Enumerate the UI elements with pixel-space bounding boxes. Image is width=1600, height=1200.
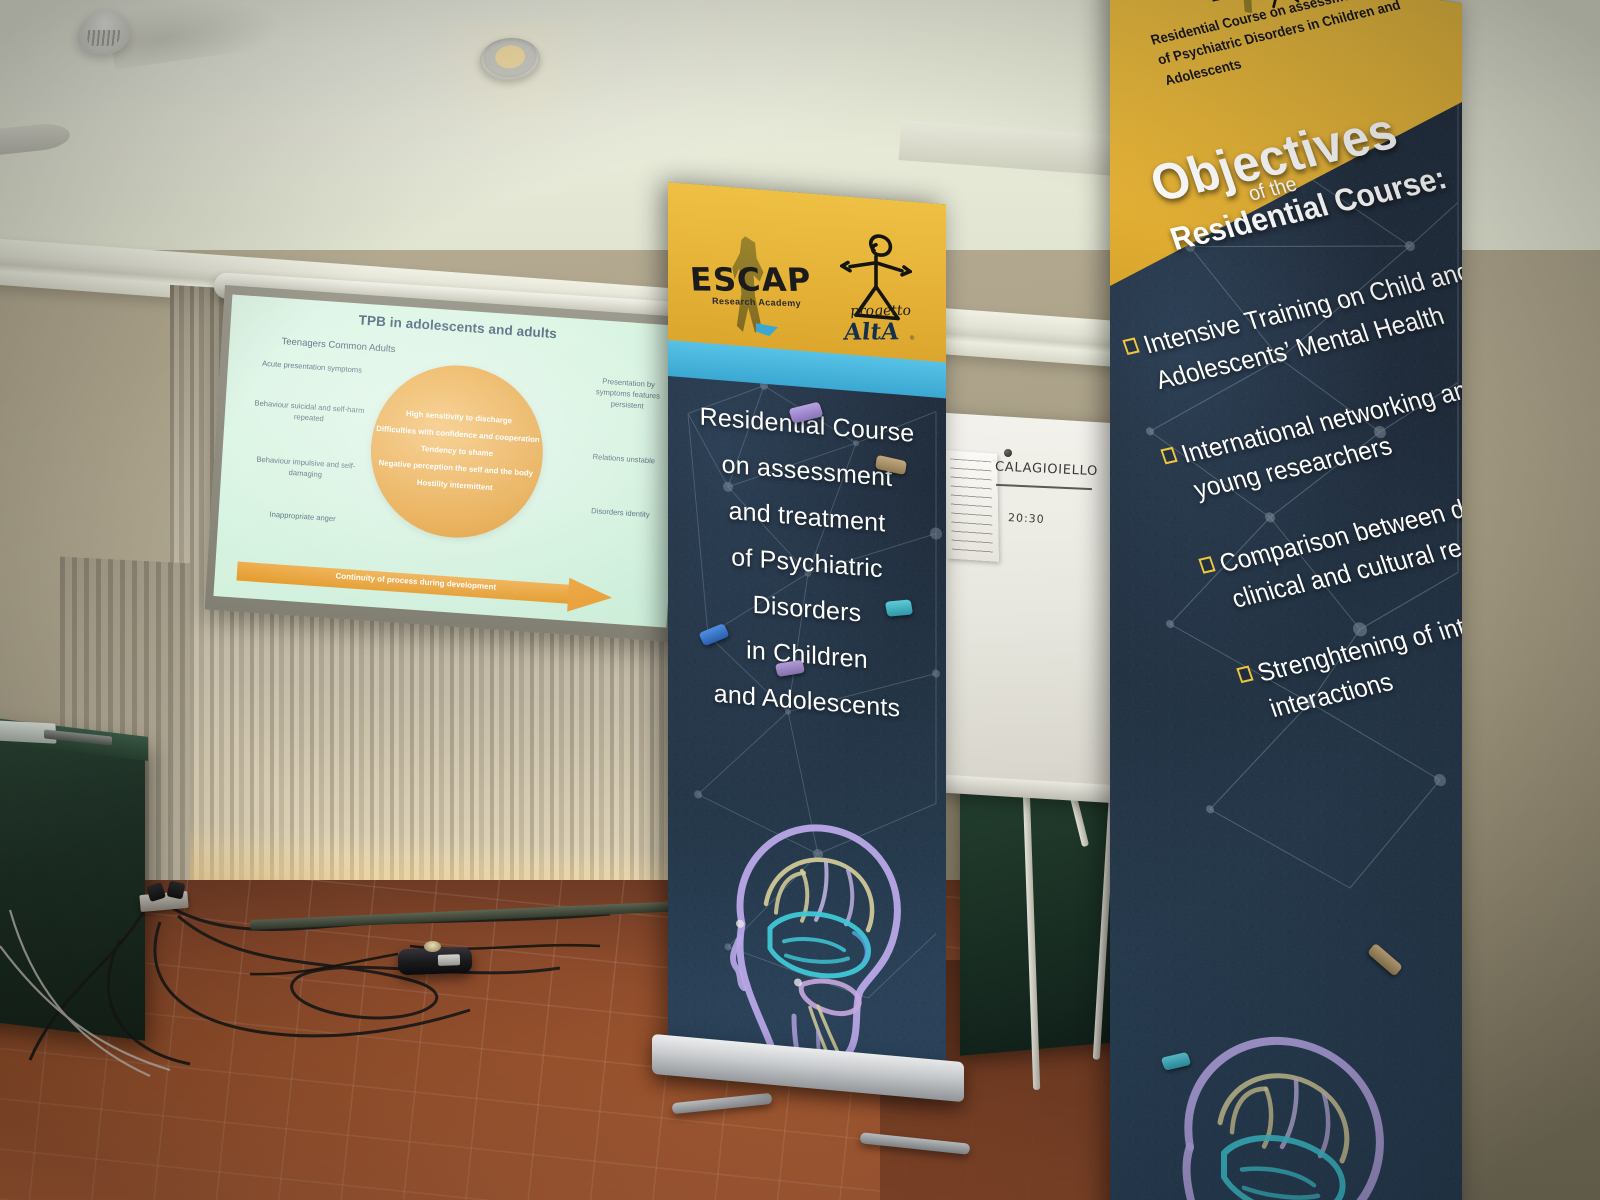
alta-logo-name: AltA bbox=[843, 318, 900, 345]
banner-center-title-line-4: Disorders bbox=[753, 591, 862, 629]
banner-center-title-line-2: and treatment bbox=[729, 497, 886, 539]
slide-circle-item-0: High sensitivity to discharge bbox=[406, 409, 513, 427]
flipchart-written-time: 20:30 bbox=[1008, 511, 1045, 526]
chalk-piece bbox=[885, 599, 913, 616]
banner-right: ESC Residential Course on assessment and… bbox=[1110, 0, 1462, 1200]
banner-center-title-line-3: of Psychiatric bbox=[731, 543, 882, 584]
banner-center: ESCAP Research Academy progetto AltA ® bbox=[668, 182, 946, 1094]
slide-circle-item-3: Negative perception the self and the bod… bbox=[378, 458, 533, 479]
slide-left-item-2: Behaviour impulsive and self-damaging bbox=[245, 454, 366, 484]
banner-center-body: Residential Course on assessment and tre… bbox=[668, 374, 946, 1094]
projection-screen: TPB in adolescents and adults Teenagers … bbox=[205, 285, 694, 642]
banner-center-header-band: ESCAP Research Academy progetto AltA ® bbox=[668, 182, 946, 364]
presentation-slide: TPB in adolescents and adults Teenagers … bbox=[213, 295, 685, 628]
slide-continuity-arrow: Continuity of process during development bbox=[236, 558, 633, 612]
slide-circle-item-1: Difficulties with confidence and coopera… bbox=[376, 424, 540, 446]
escap-figure-foot-icon bbox=[756, 323, 778, 337]
banner-center-title-block: Residential Course on assessment and tre… bbox=[668, 400, 946, 727]
slide-column-header: Teenagers Common Adults bbox=[281, 336, 395, 355]
flipchart-clip-icon bbox=[1004, 449, 1012, 457]
projection-screen-frame: TPB in adolescents and adults Teenagers … bbox=[205, 285, 694, 642]
slide-circle-item-4: Hostility intermittent bbox=[417, 478, 493, 493]
flipchart-side-paper bbox=[945, 450, 999, 562]
escap-logo-text: ESCAP bbox=[689, 260, 813, 299]
plug-icon bbox=[167, 881, 186, 900]
scene-root: CALAGIOIELLO 20:30 TPB in adolescents an… bbox=[0, 0, 1600, 1200]
alta-logo-progetto: progetto bbox=[849, 303, 911, 319]
banner-center-title-line-1: on assessment bbox=[722, 450, 893, 493]
slide-right-item-0: Presentation by symptoms features persis… bbox=[584, 375, 672, 413]
banner-center-title-line-5: in Children bbox=[746, 636, 868, 675]
escap-logo-subtitle: Research Academy bbox=[712, 296, 802, 309]
slide-right-item-1: Relations unstable bbox=[581, 451, 667, 468]
slide-right-item-2: Disorders identity bbox=[577, 505, 663, 522]
slide-left-item-3: Inappropriate anger bbox=[242, 508, 362, 527]
slide-left-item-1: Behaviour suicidal and self-harm repeate… bbox=[249, 398, 370, 428]
banner-center-title-line-6: and Adolescents bbox=[714, 680, 900, 724]
chalk-head-brain-icon-right bbox=[1120, 957, 1420, 1200]
projector-lens-icon bbox=[424, 941, 441, 952]
alta-logo-tm: ® bbox=[910, 336, 915, 342]
slide-center-circle: High sensitivity to discharge Difficulti… bbox=[366, 360, 548, 544]
slide-circle-item-2: Tendency to shame bbox=[421, 444, 494, 459]
slide-left-item-0: Acute presentation symptoms bbox=[252, 358, 372, 377]
